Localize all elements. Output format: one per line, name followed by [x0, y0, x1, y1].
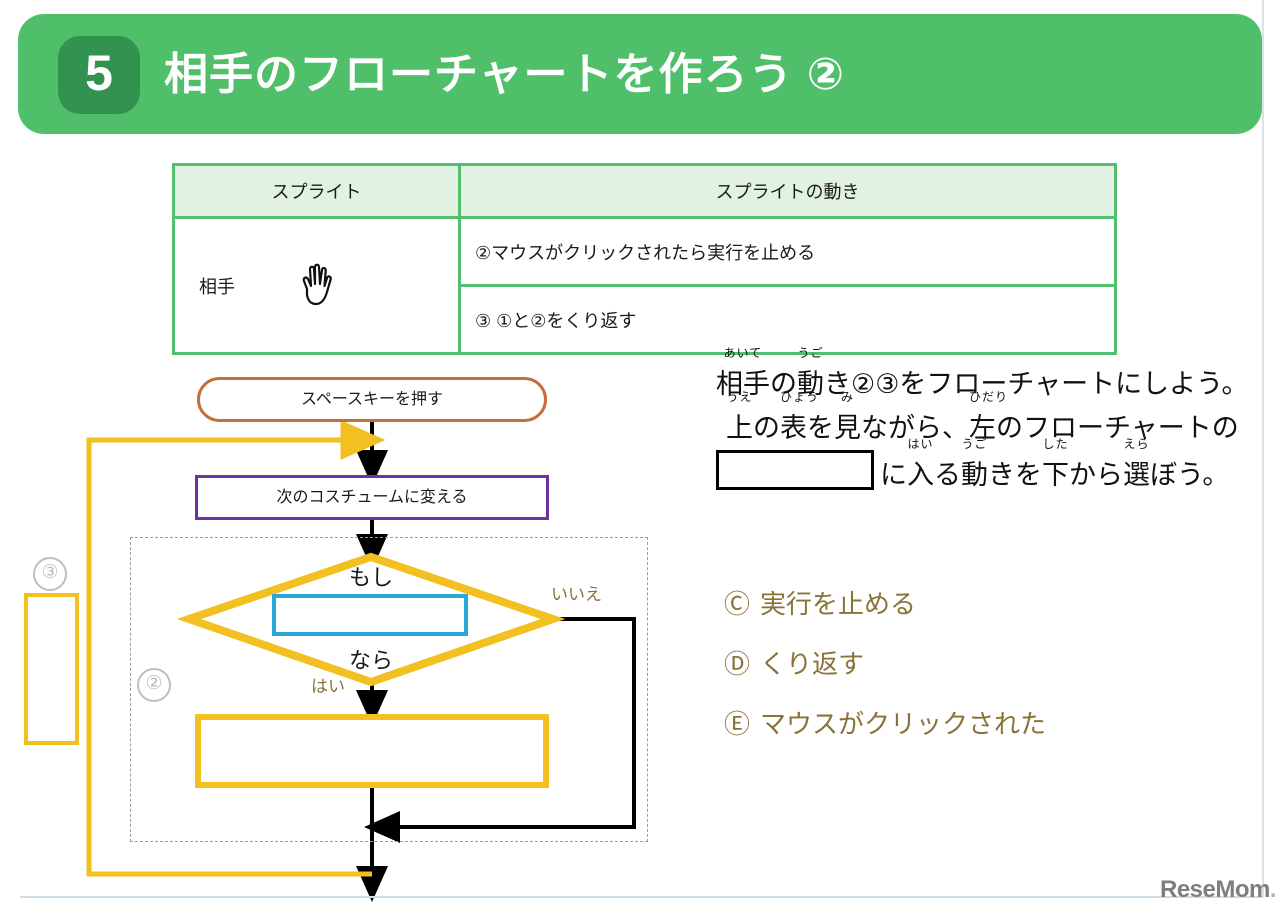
ruby-text: ひだり: [969, 391, 996, 403]
ruby-text: うご: [961, 438, 988, 450]
ruby-group: はい入: [907, 453, 934, 497]
instruction-text: 上: [726, 413, 753, 443]
ruby-group: み見: [834, 406, 861, 450]
flow-condition-answer-blank[interactable]: [272, 594, 468, 636]
flow-condition-prefix: もし: [189, 560, 553, 592]
option-e[interactable]: Ⓔマウスがクリックされた: [724, 694, 1046, 754]
option-label: マウスがクリックされた: [760, 709, 1046, 739]
option-d[interactable]: Ⓓくり返す: [724, 634, 1046, 694]
answer-options: Ⓒ実行を止める Ⓓくり返す Ⓔマウスがクリックされた: [724, 574, 1046, 754]
ruby-text: うえ: [726, 391, 753, 403]
option-marker: Ⓔ: [724, 709, 750, 739]
resemom-logo: ReseMom.: [1160, 876, 1276, 904]
ruby-group: ひょう表: [780, 406, 807, 450]
flow-action-answer-blank[interactable]: [195, 714, 549, 788]
instruction-text: 表: [780, 413, 807, 443]
flow-group2-marker: ②: [137, 668, 171, 702]
ruby-text: えら: [1123, 438, 1150, 450]
ruby-group: うご動: [961, 453, 988, 497]
flow-group3-marker: ③: [33, 557, 67, 591]
flow-costume-node: 次のコスチュームに変える: [195, 475, 549, 520]
right-edge-divider: [1262, 0, 1264, 898]
instruction-text: る: [934, 460, 961, 490]
flow-start-node: スペースキーを押す: [197, 377, 547, 422]
option-c[interactable]: Ⓒ実行を止める: [724, 574, 1046, 634]
ruby-text: あいて: [716, 347, 770, 359]
instruction-text: に: [880, 460, 907, 490]
instruction-text: き②③をフローチャートにしよう。: [824, 369, 1249, 399]
flow-branch-no-label: いいえ: [551, 580, 602, 605]
instruction-line-2: うえ上のひょう表をみ見ながら、ひだり左のフローチャートの: [716, 406, 1262, 450]
instruction-text: を: [807, 413, 834, 443]
ruby-text: した: [1042, 438, 1069, 450]
instruction-text: きを: [988, 460, 1042, 490]
ruby-group: した下: [1042, 453, 1069, 497]
flow-costume-label: 次のコスチュームに変える: [198, 478, 546, 517]
instruction-answer-blank[interactable]: [716, 450, 874, 490]
flow-group3-answer-blank[interactable]: [24, 593, 79, 745]
slide-root: 5 相手のフローチャートを作ろう ② スプライト スプライトの動き 相手 ②マウ…: [0, 0, 1280, 918]
logo-dot: .: [1270, 876, 1276, 903]
footer-divider: [20, 896, 1262, 898]
instruction-text: 見: [834, 413, 861, 443]
instruction-text: ぼう。: [1150, 460, 1229, 490]
ruby-text: うご: [797, 347, 824, 359]
ruby-group: うえ上: [726, 406, 753, 450]
option-label: くり返す: [760, 649, 864, 679]
instruction-line-3: にはい入るうご動きをした下からえら選ぼう。: [716, 450, 1262, 497]
flow-start-label: スペースキーを押す: [200, 380, 544, 419]
instruction-text: 入: [907, 460, 934, 490]
logo-mom: Mom: [1215, 876, 1270, 903]
instruction-block: あいて相手のうご動き②③をフローチャートにしよう。 うえ上のひょう表をみ見ながら…: [716, 362, 1262, 497]
ruby-text: ひょう: [780, 391, 807, 403]
ruby-text: はい: [907, 438, 934, 450]
logo-rese: Rese: [1160, 876, 1215, 903]
instruction-text: のフローチャートの: [996, 413, 1239, 443]
instruction-text: 動: [961, 460, 988, 490]
option-marker: Ⓓ: [724, 649, 750, 679]
instruction-text: の: [753, 413, 780, 443]
ruby-group: えら選: [1123, 453, 1150, 497]
instruction-text: 下: [1042, 460, 1069, 490]
option-label: 実行を止める: [760, 589, 916, 619]
flow-condition-suffix: なら: [189, 643, 553, 675]
flow-branch-yes-label: はい: [311, 672, 345, 697]
ruby-text: み: [834, 391, 861, 403]
instruction-text: 選: [1123, 460, 1150, 490]
option-marker: Ⓒ: [724, 589, 750, 619]
instruction-text: から: [1069, 460, 1123, 490]
